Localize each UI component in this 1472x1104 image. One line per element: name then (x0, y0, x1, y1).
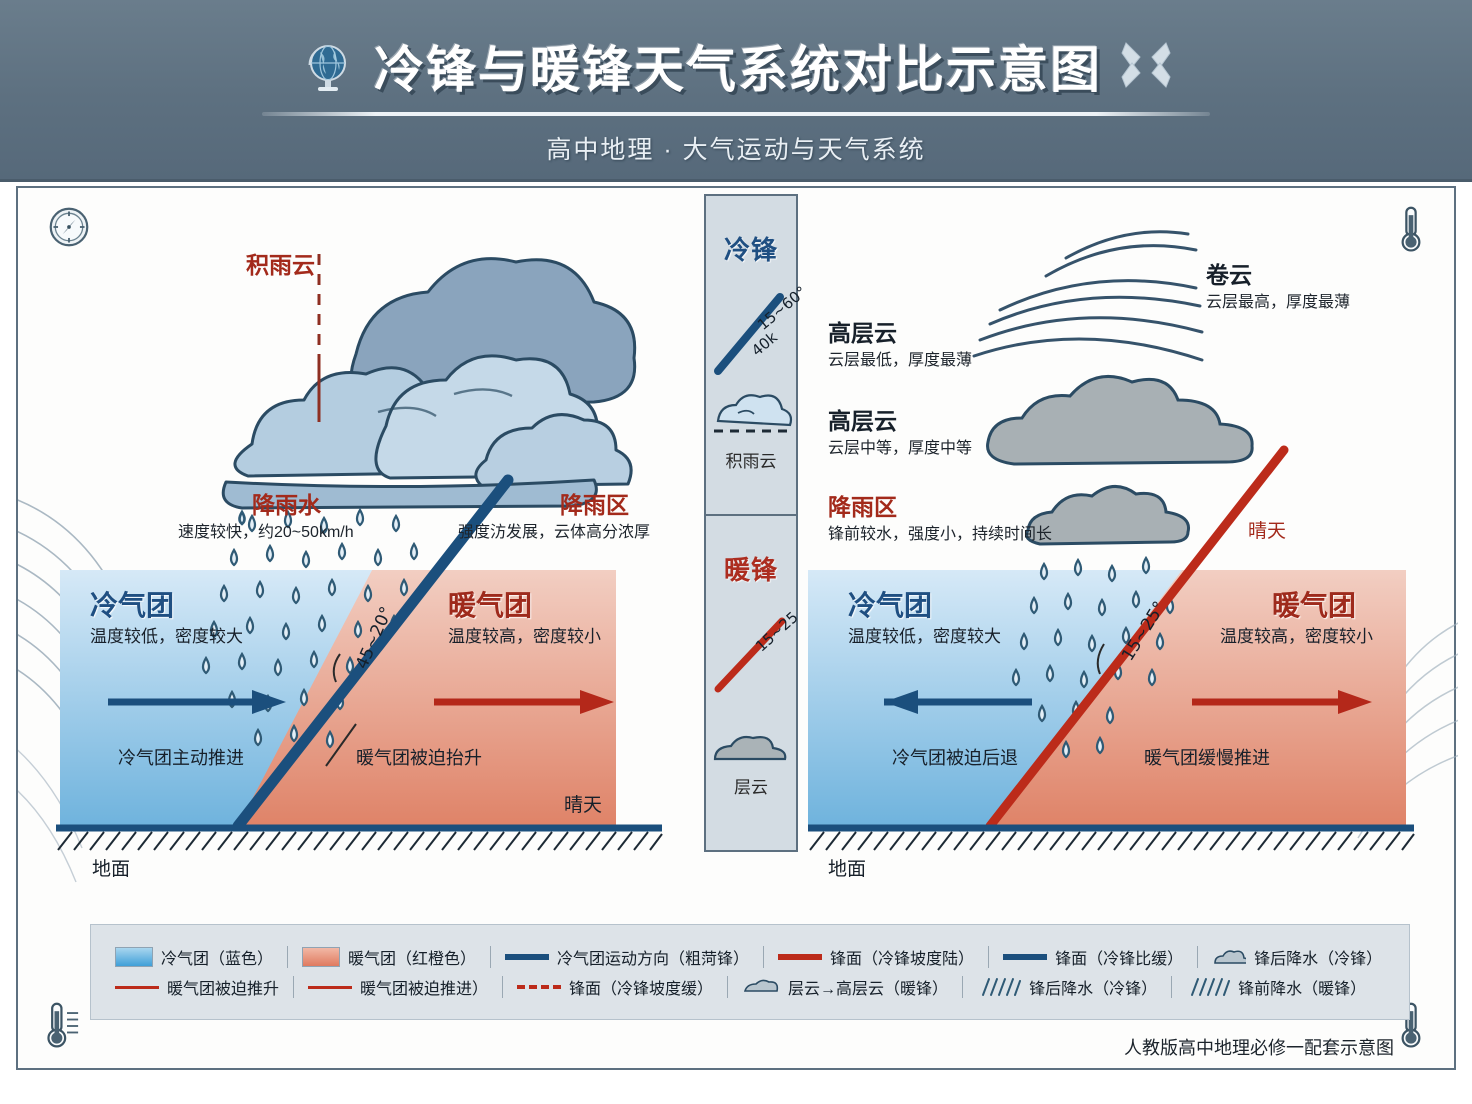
legend-label: 锋前降水（暖锋） (1238, 975, 1366, 999)
red-line-swatch (778, 954, 822, 960)
rain-zone-note-warm: 锋前较水，强度小，持续时间长 (828, 520, 1052, 544)
cirrus-clouds (974, 232, 1202, 360)
diagram-frame: 积雨云 降雨水 速度较快，约20~50km/h 降雨区 强度汸发展，云体高分浓厚… (16, 186, 1456, 1070)
legend-item[interactable]: 锋后降水（冷锋） (967, 975, 1167, 999)
warm-front-panel: 卷云 云层最高，厚度最薄 高层云 云层最低，厚度最薄 高层云 云层中等，厚度中等… (808, 194, 1442, 934)
legend-divider (502, 976, 503, 998)
dashed-red-line-swatch (517, 985, 561, 989)
warm-front-slope-icon (706, 593, 796, 701)
legend-item[interactable]: 冷气团（蓝色） (105, 945, 283, 969)
legend-item[interactable]: 暖气团被迫推升 (105, 975, 289, 999)
diagram-canvas: 积雨云 降雨水 速度较快，约20~50km/h 降雨区 强度汸发展，云体高分浓厚… (0, 182, 1472, 1104)
legend-label: 暖气团被迫推升 (167, 975, 279, 999)
rain-zone-note: 强度汸发展，云体高分浓厚 (458, 518, 650, 542)
sunny-label-right: 晴天 (1248, 516, 1286, 543)
cold-front-panel: 积雨云 降雨水 速度较快，约20~50km/h 降雨区 强度汸发展，云体高分浓厚… (56, 194, 696, 934)
legend-divider (962, 976, 963, 998)
stratus-cloud-icon (742, 978, 780, 996)
cumulus-cloud-icon (1212, 947, 1246, 967)
stratus-key-label: 层云 (734, 773, 768, 798)
navy-line-swatch (1003, 954, 1047, 960)
warm-air-mass-title: 暖气团 (448, 584, 532, 624)
legend-label: 暖气团（红橙色） (348, 945, 476, 969)
cold-retreat-label: 冷气团被迫后退 (892, 744, 1018, 770)
satellite-icon (1120, 37, 1172, 95)
altostratus-note-2: 云层中等，厚度中等 (828, 434, 972, 458)
legend-divider (490, 946, 491, 968)
stratus-key-icon (707, 725, 795, 769)
legend-label: 锋面（冷锋比缓） (1055, 945, 1183, 969)
legend-divider (293, 976, 294, 998)
legend-label: 暖气团被迫推进） (360, 975, 488, 999)
cirrus-note: 云层最高，厚度最薄 (1206, 288, 1350, 312)
ground-label-left: 地面 (92, 854, 130, 881)
warm-lift-label: 暖气团被迫抬升 (356, 744, 482, 770)
cold-air-mass-sub-warm: 温度较低，密度较大 (848, 622, 1001, 647)
cumulonimbus-key-icon (708, 391, 794, 443)
cold-air-mass-title-warm: 冷气团 (848, 584, 932, 624)
legend-divider (287, 946, 288, 968)
legend-label: 锋后降水（冷锋） (1254, 945, 1382, 969)
cold-front-slope-icon (706, 273, 796, 381)
rain-strokes-icon (977, 976, 1021, 998)
legend-item[interactable]: 锋面（冷锋坡度陆） (768, 945, 984, 969)
cold-front-key: 冷锋 15~60° 40k 积雨云 (704, 194, 798, 514)
warm-air-mass-sub-warm: 温度较高，密度较小 (1220, 622, 1373, 647)
cumulonimbus-label: 积雨云 (246, 246, 315, 280)
ground-hatch-warm (810, 832, 1414, 850)
legend-label: 冷气团运动方向（粗菏锋） (557, 945, 749, 969)
sunny-label-left: 晴天 (564, 790, 602, 817)
altostratus-label-2: 高层云 (828, 402, 897, 436)
legend-divider (727, 976, 728, 998)
ground-hatch (58, 832, 662, 850)
legend-label: 锋面（冷锋坡度缓） (569, 975, 713, 999)
globe-icon (300, 35, 356, 97)
legend-item[interactable]: 暖气团被迫推进） (298, 975, 498, 999)
thin-red-line-swatch (115, 986, 159, 989)
legend-label: 冷气团（蓝色） (161, 945, 273, 969)
cold-air-mass-title: 冷气团 (90, 584, 174, 624)
thin-red-line-swatch (308, 986, 352, 989)
rain-zone-label: 降雨区 (560, 486, 629, 520)
altostratus-note-1: 云层最低，厚度最薄 (828, 346, 972, 370)
legend-item[interactable]: 锋面（冷锋坡度缓） (507, 975, 723, 999)
legend-divider (1197, 946, 1198, 968)
warm-air-mass-sub: 温度较高，密度较小 (448, 622, 601, 647)
legend-item[interactable]: 暖气团（红橙色） (292, 945, 486, 969)
warm-advance-label: 暖气团缓慢推进 (1144, 744, 1270, 770)
rainfall-note: 速度较快，约20~50km/h (178, 518, 354, 542)
cold-front-key-title: 冷锋 (724, 230, 778, 267)
cirrus-label: 卷云 (1206, 256, 1252, 290)
legend-item[interactable]: 冷气团运动方向（粗菏锋） (495, 945, 759, 969)
rain-zone-label-warm: 降雨区 (828, 488, 897, 522)
cold-advance-label: 冷气团主动推进 (118, 744, 244, 770)
title-row: 冷锋与暖锋天气系统对比示意图 (0, 30, 1472, 102)
altostratus-cloud (988, 376, 1253, 464)
cold-front-graphic (56, 194, 696, 934)
front-legend-column: 冷锋 15~60° 40k 积雨云 暖锋 15~25 层云 (704, 194, 798, 884)
warm-air-mass-title-warm: 暖气团 (1272, 584, 1356, 624)
legend-label: 锋后降水（冷锋） (1029, 975, 1157, 999)
cumulonimbus-key-label: 积雨云 (726, 447, 777, 472)
warm-front-key: 暖锋 15~25 层云 (704, 514, 798, 852)
title-divider (262, 112, 1210, 116)
legend-divider (988, 946, 989, 968)
page-subtitle: 高中地理 · 大气运动与天气系统 (0, 130, 1472, 166)
page-title: 冷锋与暖锋天气系统对比示意图 (374, 30, 1102, 102)
cumulonimbus-cloud (223, 259, 634, 508)
legend-item[interactable]: 锋前降水（暖锋） (1176, 975, 1376, 999)
ground-label-right: 地面 (828, 854, 866, 881)
page-header: 冷锋与暖锋天气系统对比示意图 高中地理 · 大气运动与天气系统 (0, 0, 1472, 182)
legend-item[interactable]: 锋面（冷锋比缓） (993, 945, 1193, 969)
rain-strokes-icon (1186, 976, 1230, 998)
legend-item[interactable]: 锋后降水（冷锋） (1202, 945, 1392, 969)
legend-label: 层云→高层云（暖锋） (788, 975, 948, 999)
cold-air-swatch (115, 947, 153, 967)
legend-row-2: 暖气团被迫推升 暖气团被迫推进） 锋面（冷锋坡度缓） 层云→高层云（暖锋） (105, 975, 1395, 999)
legend-panel: 冷气团（蓝色） 暖气团（红橙色） 冷气团运动方向（粗菏锋） 锋面（冷锋坡度陆） … (90, 924, 1410, 1020)
legend-row-1: 冷气团（蓝色） 暖气团（红橙色） 冷气团运动方向（粗菏锋） 锋面（冷锋坡度陆） … (105, 945, 1395, 969)
footer-note: 人教版高中地理必修一配套示意图 (18, 1034, 1394, 1060)
rainfall-label: 降雨水 (252, 486, 321, 520)
altostratus-label-1: 高层云 (828, 314, 897, 348)
legend-divider (1171, 976, 1172, 998)
warm-air-swatch (302, 947, 340, 967)
legend-item[interactable]: 层云→高层云（暖锋） (732, 975, 958, 999)
navy-line-swatch (505, 954, 549, 960)
legend-divider (763, 946, 764, 968)
legend-label: 锋面（冷锋坡度陆） (830, 945, 974, 969)
warm-front-key-title: 暖锋 (724, 550, 778, 587)
cold-air-mass-sub: 温度较低，密度较大 (90, 622, 243, 647)
